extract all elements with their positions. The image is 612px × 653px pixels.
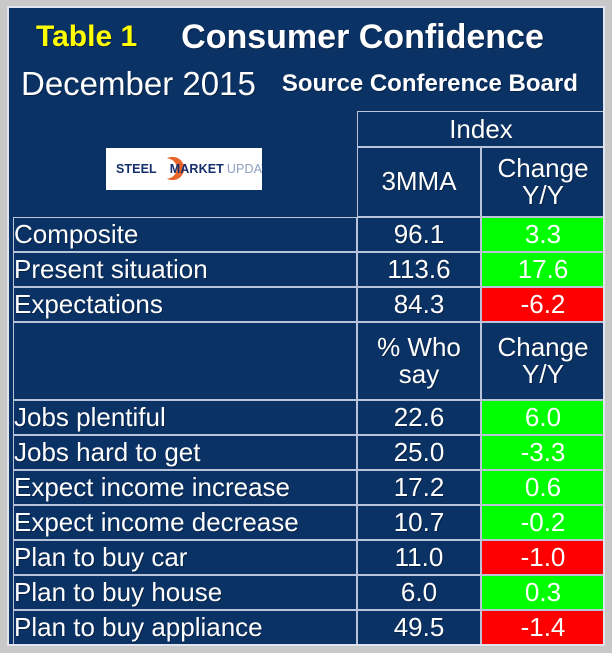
column-header-3mma: 3MMA (357, 147, 481, 217)
table-row: Plan to buy car 11.0 -1.0 (13, 540, 605, 575)
row-value-percent: 6.0 (357, 575, 481, 610)
consumer-confidence-grid: Index 3MMA Change Y/Y Composite 96.1 3.3 (13, 111, 605, 645)
column-header-percent-who-say: % Who say (357, 322, 481, 400)
title-block: Table 1 Consumer Confidence December 201… (9, 8, 603, 108)
section2-header-row: % Who say Change Y/Y (13, 322, 605, 400)
section2-header-blank (13, 322, 357, 400)
row-value-percent: 11.0 (357, 540, 481, 575)
row-change-yy: 0.3 (481, 575, 605, 610)
row-label: Plan to buy house (13, 575, 357, 610)
column-header-change-line2: Y/Y (522, 180, 564, 210)
row-change-yy: -0.2 (481, 505, 605, 540)
row-change-yy: -6.2 (481, 287, 605, 322)
column-header-change-line1: Change (497, 153, 588, 183)
period-label: December 2015 (21, 65, 256, 103)
row-label: Jobs hard to get (13, 435, 357, 470)
column-header-change2-line2: Y/Y (522, 359, 564, 389)
column-header-percent-line1: % Who (377, 332, 461, 362)
table-row: Expect income decrease 10.7 -0.2 (13, 505, 605, 540)
table-row: Plan to buy house 6.0 0.3 (13, 575, 605, 610)
row-value-percent: 49.5 (357, 610, 481, 645)
column-header-percent-line2: say (399, 359, 439, 389)
row-label: Expectations (13, 287, 357, 322)
row-value-percent: 10.7 (357, 505, 481, 540)
row-change-yy: -1.4 (481, 610, 605, 645)
consumer-confidence-table-card: Table 1 Consumer Confidence December 201… (0, 0, 612, 653)
row-label: Composite (13, 217, 357, 252)
row-label: Expect income decrease (13, 505, 357, 540)
title-row-primary: Table 1 Consumer Confidence (9, 13, 603, 61)
logo-word-steel: STEEL (116, 162, 157, 176)
table-row: Jobs plentiful 22.6 6.0 (13, 400, 605, 435)
row-label: Present situation (13, 252, 357, 287)
logo-word-market: MARKET (170, 162, 224, 176)
group-header-spacer (13, 111, 357, 147)
row-label: Expect income increase (13, 470, 357, 505)
source-label: Source Conference Board (282, 70, 578, 98)
column-header-change-yy: Change Y/Y (481, 147, 605, 217)
table-row: Composite 96.1 3.3 (13, 217, 605, 252)
table-row: Expectations 84.3 -6.2 (13, 287, 605, 322)
page-title: Consumer Confidence (181, 18, 544, 57)
row-value-3mma: 96.1 (357, 217, 481, 252)
row-label: Plan to buy car (13, 540, 357, 575)
column-group-header-index: Index (357, 111, 605, 147)
group-header-row: Index (13, 111, 605, 147)
row-change-yy: -1.0 (481, 540, 605, 575)
table-row: Present situation 113.6 17.6 (13, 252, 605, 287)
row-label: Jobs plentiful (13, 400, 357, 435)
column-header-change2-line1: Change (497, 332, 588, 362)
row-change-yy: 3.3 (481, 217, 605, 252)
column-header-spacer (13, 147, 357, 217)
row-change-yy: 6.0 (481, 400, 605, 435)
column-header-change-yy-2: Change Y/Y (481, 322, 605, 400)
row-change-yy: 17.6 (481, 252, 605, 287)
table-row: Expect income increase 17.2 0.6 (13, 470, 605, 505)
column-header-row: 3MMA Change Y/Y (13, 147, 605, 217)
row-value-percent: 22.6 (357, 400, 481, 435)
row-value-percent: 17.2 (357, 470, 481, 505)
logo-wordmark: STEELMARKETUPDATE (116, 163, 262, 176)
table-inner-panel: Table 1 Consumer Confidence December 201… (7, 6, 605, 646)
row-label: Plan to buy appliance (13, 610, 357, 645)
table-row: Jobs hard to get 25.0 -3.3 (13, 435, 605, 470)
logo-word-update: UPDATE (227, 162, 262, 176)
table-row: Plan to buy appliance 49.5 -1.4 (13, 610, 605, 645)
row-change-yy: -3.3 (481, 435, 605, 470)
row-value-percent: 25.0 (357, 435, 481, 470)
row-value-3mma: 84.3 (357, 287, 481, 322)
row-value-3mma: 113.6 (357, 252, 481, 287)
row-change-yy: 0.6 (481, 470, 605, 505)
title-row-secondary: December 2015 Source Conference Board (9, 62, 603, 106)
table-number-label: Table 1 (36, 20, 137, 54)
